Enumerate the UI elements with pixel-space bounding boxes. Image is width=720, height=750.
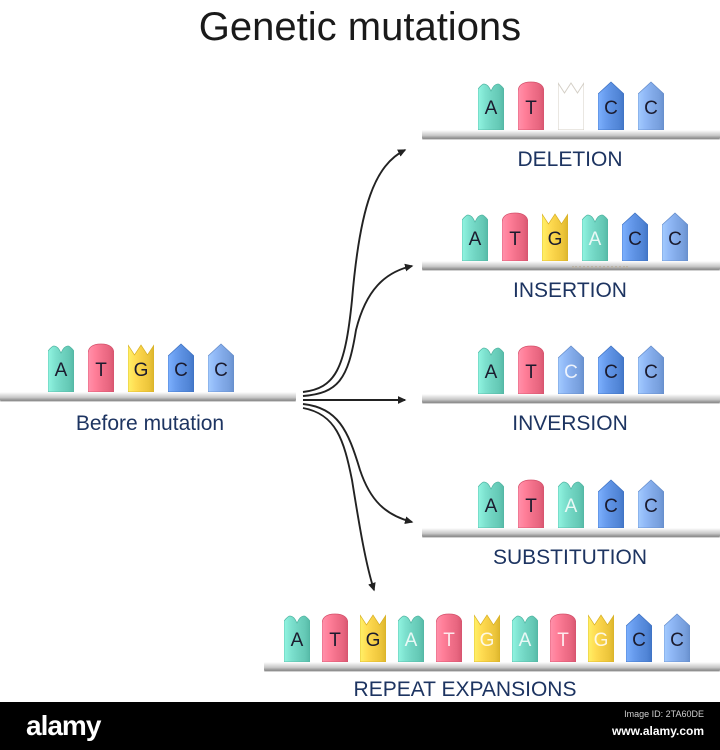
image-id-text: Image ID: 2TA60DE xyxy=(624,709,704,719)
base-group-deletion: ATCC xyxy=(478,80,664,130)
nucleotide-t: T xyxy=(502,211,528,261)
nucleotide-c: C xyxy=(622,211,648,261)
insertion-gap-marker xyxy=(572,266,628,268)
nucleotide-c: C xyxy=(598,344,624,394)
alamy-logo: alamy xyxy=(26,710,100,742)
nucleotide-a: A xyxy=(478,80,504,130)
page-title: Genetic mutations xyxy=(0,4,720,50)
nucleotide-c: C xyxy=(168,342,194,392)
base-group-before-mutation: ATGCC xyxy=(48,342,234,392)
nucleotide-a: A xyxy=(462,211,488,261)
nucleotide-g: G xyxy=(542,211,568,261)
nucleotide-c: C xyxy=(558,344,584,394)
nucleotide-g: G xyxy=(588,612,614,662)
caption-insertion: INSERTION xyxy=(450,279,690,303)
nucleotide-c: C xyxy=(638,478,664,528)
backbone-bar xyxy=(422,394,720,403)
nucleotide-a: A xyxy=(512,612,538,662)
backbone-bar xyxy=(422,261,720,270)
backbone-bar xyxy=(0,392,296,401)
nucleotide-c: C xyxy=(598,478,624,528)
nucleotide-a: A xyxy=(398,612,424,662)
nucleotide-c: C xyxy=(638,344,664,394)
nucleotide-a: A xyxy=(478,478,504,528)
nucleotide-t: T xyxy=(518,478,544,528)
nucleotide-t: T xyxy=(88,342,114,392)
nucleotide-c: C xyxy=(598,80,624,130)
nucleotide-a: A xyxy=(582,211,608,261)
nucleotide-g: G xyxy=(474,612,500,662)
nucleotide-c: C xyxy=(626,612,652,662)
base-group-repeat-expansions: ATGATGATGCC xyxy=(284,612,690,662)
caption-deletion: DELETION xyxy=(450,148,690,172)
nucleotide-c: C xyxy=(208,342,234,392)
nucleotide-g: G xyxy=(128,342,154,392)
base-group-insertion: ATGACC xyxy=(462,211,688,261)
base-group-inversion: ATCCC xyxy=(478,344,664,394)
nucleotide-t: T xyxy=(322,612,348,662)
nucleotide-t: T xyxy=(550,612,576,662)
backbone-bar xyxy=(422,528,720,537)
nucleotide-c: C xyxy=(662,211,688,261)
nucleotide-t: T xyxy=(518,80,544,130)
nucleotide-c: C xyxy=(638,80,664,130)
nucleotide-a: A xyxy=(48,342,74,392)
nucleotide-a: A xyxy=(284,612,310,662)
diagram-canvas: Genetic mutations ATGCC Before mutation … xyxy=(0,0,720,750)
nucleotide-t: T xyxy=(518,344,544,394)
watermark-bar: alamy Image ID: 2TA60DE www.alamy.com xyxy=(0,702,720,750)
caption-substitution: SUBSTITUTION xyxy=(450,546,690,570)
alamy-url-text: www.alamy.com xyxy=(612,724,704,738)
caption-inversion: INVERSION xyxy=(450,412,690,436)
nucleotide-g: G xyxy=(360,612,386,662)
caption-before-mutation: Before mutation xyxy=(40,412,260,436)
caption-repeat-expansions: REPEAT EXPANSIONS xyxy=(300,678,630,702)
nucleotide-t: T xyxy=(436,612,462,662)
base-group-substitution: ATACC xyxy=(478,478,664,528)
backbone-bar xyxy=(422,130,720,139)
nucleotide-a: A xyxy=(558,478,584,528)
backbone-bar xyxy=(264,662,720,671)
nucleotide-empty xyxy=(558,80,584,130)
nucleotide-a: A xyxy=(478,344,504,394)
nucleotide-c: C xyxy=(664,612,690,662)
